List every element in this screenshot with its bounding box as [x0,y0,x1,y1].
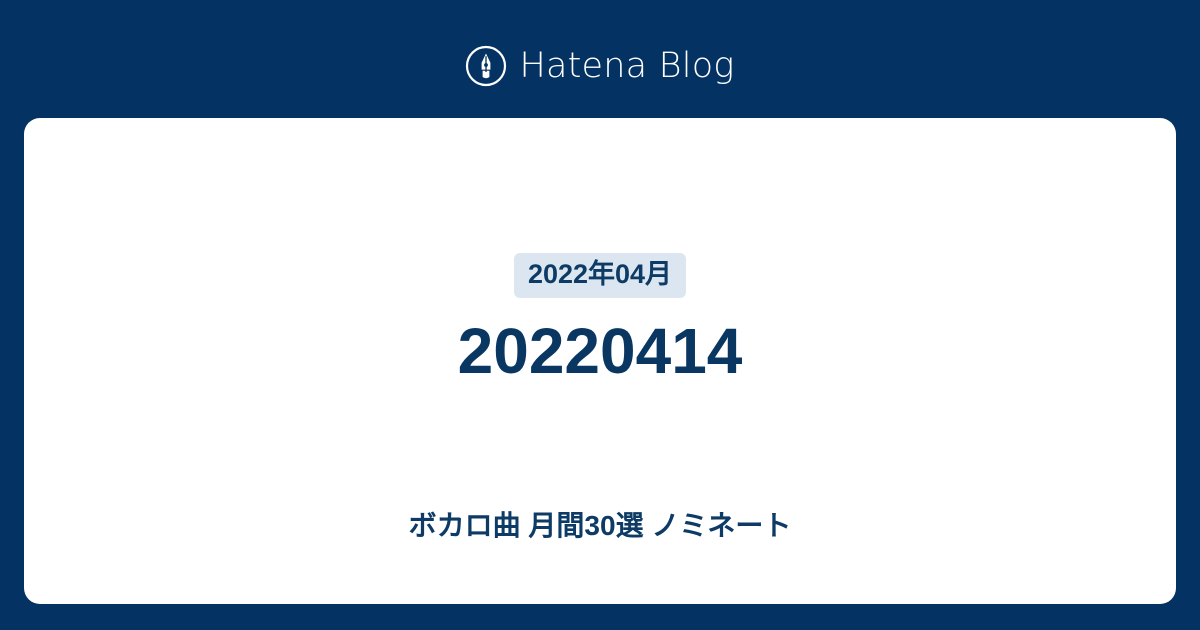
entry-card: 2022年04月 20220414 ボカロ曲 月間30選 ノミネート [24,118,1176,604]
blog-name-row: ボカロ曲 月間30選 ノミネート [24,508,1176,544]
entry-title-row: 20220414 [24,314,1176,390]
brand-name: Hatena Blog [519,49,734,84]
entry-card-inner: 2022年04月 20220414 ボカロ曲 月間30選 ノミネート [24,118,1176,604]
brand-header[interactable]: Hatena Blog [0,42,1200,90]
date-badge-row: 2022年04月 [24,253,1176,298]
date-badge: 2022年04月 [514,253,686,298]
entry-title: 20220414 [458,314,743,390]
og-card-canvas: Hatena Blog 2022年04月 20220414 ボカロ曲 月間30選… [0,0,1200,630]
pen-nib-circle-icon [465,45,507,87]
blog-name: ボカロ曲 月間30選 ノミネート [409,508,792,544]
